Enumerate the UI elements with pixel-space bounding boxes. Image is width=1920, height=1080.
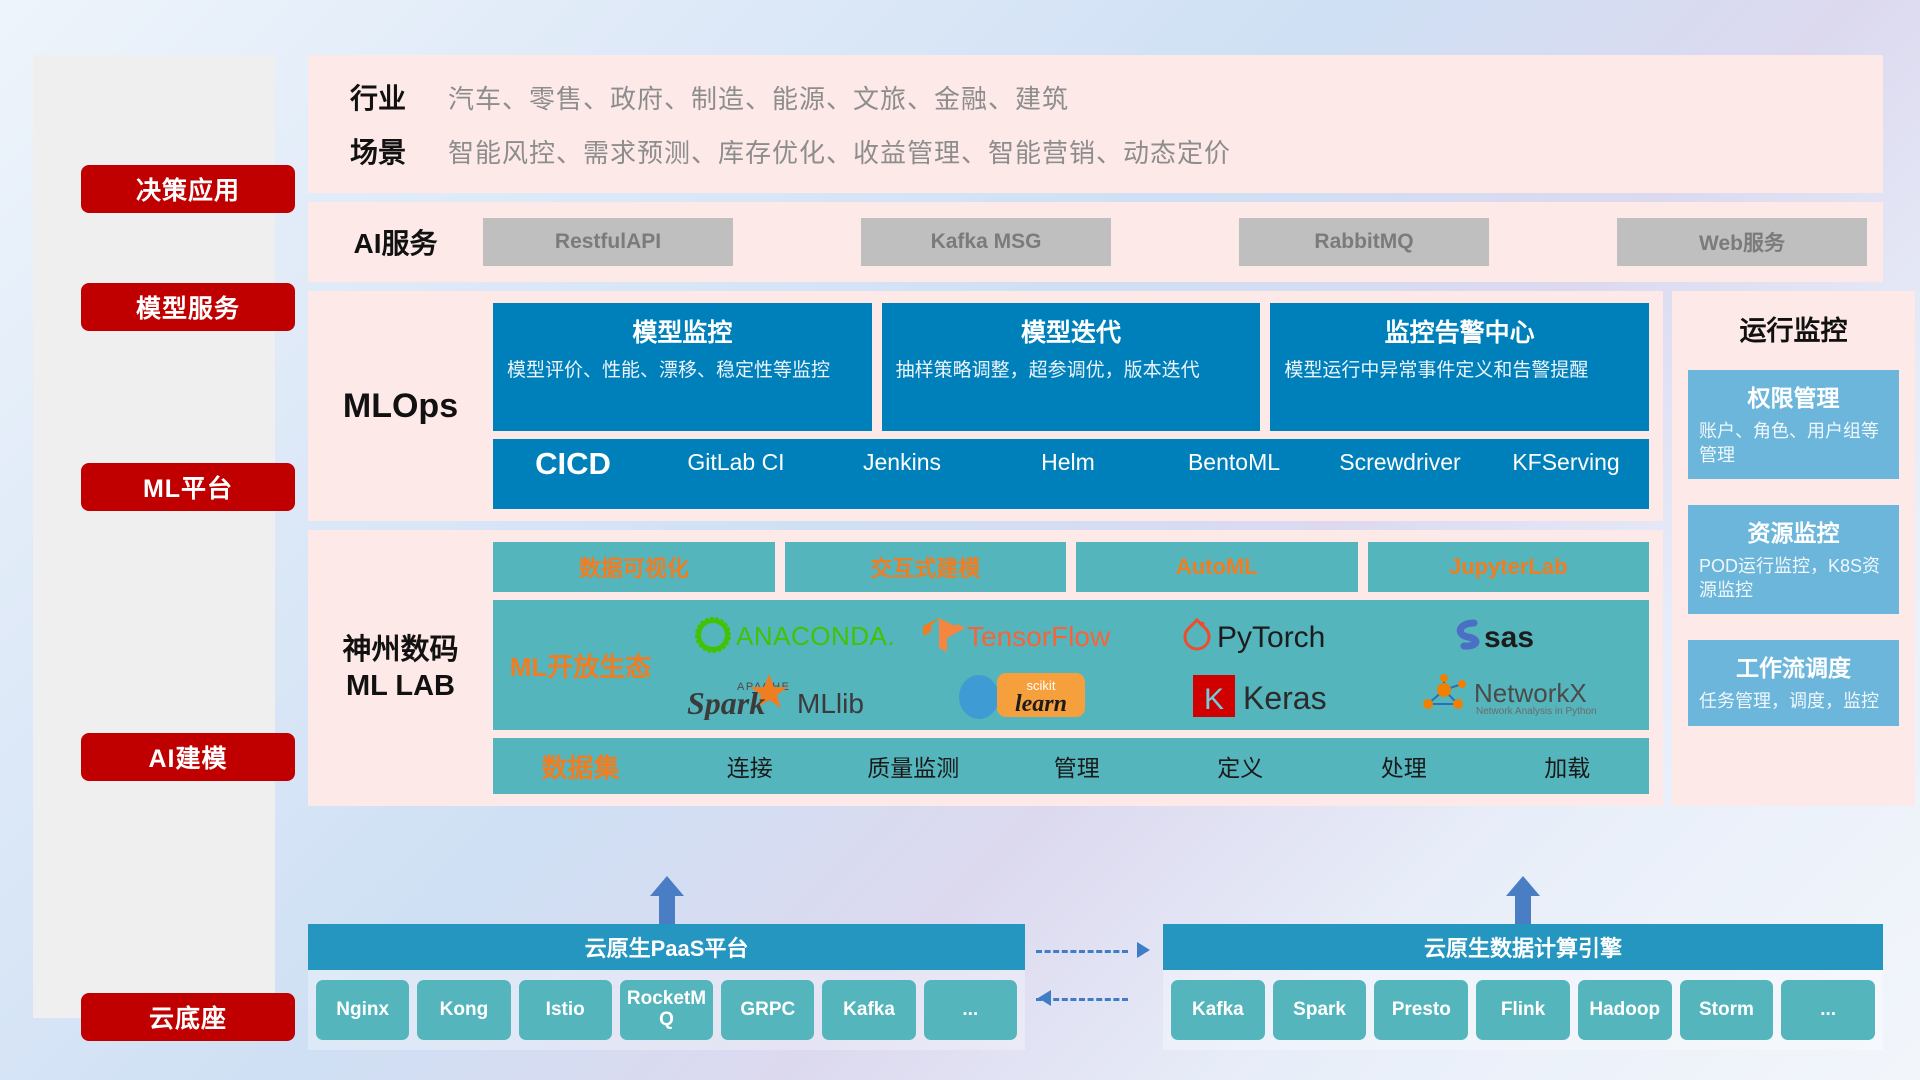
ml-lab-label: 神州数码 ML LAB: [308, 542, 493, 794]
card-desc: POD运行监控，K8S资源监控: [1699, 554, 1888, 602]
chip-presto[interactable]: Presto: [1374, 980, 1468, 1040]
scikit-learn-logo: scikit learn: [943, 666, 1133, 724]
ml-open-ecosystem: ML开放生态 ANACONDA.: [493, 600, 1649, 730]
card-title: 工作流调度: [1699, 649, 1888, 683]
chip-kafka-right[interactable]: Kafka: [1171, 980, 1265, 1040]
chip-grpc[interactable]: GRPC: [721, 980, 814, 1040]
svg-text:sas: sas: [1484, 621, 1534, 654]
scenario-values: 智能风控、需求预测、库存优化、收益管理、智能营销、动态定价: [448, 133, 1231, 170]
svg-text:TensorFlow: TensorFlow: [967, 621, 1111, 652]
ml-lab-label-line2: ML LAB: [342, 668, 458, 704]
ai-service-rabbitmq[interactable]: RabbitMQ: [1239, 218, 1489, 266]
rail-item-label: ML平台: [143, 469, 233, 505]
cloud-native-paas-group: 云原生PaaS平台 Nginx Kong Istio RocketMQ GRPC…: [308, 924, 1025, 1050]
svg-text:Network Analysis in Python: Network Analysis in Python: [1476, 706, 1597, 717]
card-desc: 模型运行中异常事件定义和告警提醒: [1284, 358, 1635, 383]
decision-application-band: 行业 汽车、零售、政府、制造、能源、文旅、金融、建筑 场景 智能风控、需求预测、…: [308, 55, 1883, 193]
mlops-body: 模型监控 模型评价、性能、漂移、稳定性等监控 模型迭代 抽样策略调整，超参调优，…: [493, 303, 1663, 509]
left-rail: 决策应用 模型服务 ML平台 AI建模 云底座: [33, 55, 275, 1018]
dataset-items: 连接 质量监测 管理 定义 处理 加载: [668, 749, 1649, 783]
svg-text:MLlib: MLlib: [797, 688, 864, 719]
chip-istio[interactable]: Istio: [519, 980, 612, 1040]
industry-row: 行业 汽车、零售、政府、制造、能源、文旅、金融、建筑: [308, 77, 1883, 117]
cicd-item-helm[interactable]: Helm: [985, 445, 1151, 477]
ai-service-web[interactable]: Web服务: [1617, 218, 1867, 266]
dataset-item-connect[interactable]: 连接: [668, 749, 832, 783]
chip-more-left[interactable]: ...: [924, 980, 1017, 1040]
rail-item-label: AI建模: [148, 739, 227, 775]
rail-item-ml-platform[interactable]: ML平台: [81, 463, 295, 511]
ai-service-items: RestfulAPI Kafka MSG RabbitMQ Web服务: [483, 218, 1883, 266]
tool-data-visualization[interactable]: 数据可视化: [493, 542, 775, 592]
chip-rocketmq[interactable]: RocketMQ: [620, 980, 713, 1040]
cloud-native-paas-chips: Nginx Kong Istio RocketMQ GRPC Kafka ...: [308, 970, 1025, 1050]
up-arrow-left-icon: [650, 876, 684, 924]
industry-values: 汽车、零售、政府、制造、能源、文旅、金融、建筑: [448, 79, 1069, 116]
tool-jupyterlab[interactable]: JupyterLab: [1368, 542, 1650, 592]
cloud-base-row: 云原生PaaS平台 Nginx Kong Istio RocketMQ GRPC…: [308, 876, 1883, 1066]
runtime-monitor-title: 运行监控: [1688, 309, 1899, 348]
chip-hadoop[interactable]: Hadoop: [1578, 980, 1672, 1040]
svg-text:learn: learn: [1015, 691, 1067, 717]
rail-item-label: 云底座: [149, 999, 227, 1035]
svg-text:K: K: [1204, 683, 1224, 716]
ai-service-band: AI服务 RestfulAPI Kafka MSG RabbitMQ Web服务: [308, 202, 1883, 282]
dataset-item-process[interactable]: 处理: [1322, 749, 1486, 783]
svg-text:ANACONDA.: ANACONDA.: [736, 621, 895, 651]
ml-lab-band: 神州数码 ML LAB 数据可视化 交互式建模 AutoML JupyterLa…: [308, 530, 1663, 806]
dataset-item-load[interactable]: 加载: [1486, 749, 1650, 783]
diagram-canvas: 决策应用 模型服务 ML平台 AI建模 云底座 行业 汽车、零售、政府、制造、能…: [0, 0, 1920, 1080]
card-desc: 任务管理，调度，监控: [1699, 689, 1888, 713]
ml-lab-body: 数据可视化 交互式建模 AutoML JupyterLab ML开放生态: [493, 542, 1663, 794]
platform-column: MLOps 模型监控 模型评价、性能、漂移、稳定性等监控 模型迭代 抽样策略调整…: [308, 291, 1663, 806]
pytorch-logo: PyTorch: [1179, 606, 1379, 664]
cloud-native-data-engine-group: 云原生数据计算引擎 Kafka Spark Presto Flink Hadoo…: [1163, 924, 1883, 1050]
runtime-monitor-panel: 运行监控 权限管理 账户、角色、用户组等管理 资源监控 POD运行监控，K8S资…: [1672, 291, 1915, 806]
rail-item-cloud-base[interactable]: 云底座: [81, 993, 295, 1041]
mlops-label: MLOps: [308, 303, 493, 509]
main-stack: 行业 汽车、零售、政府、制造、能源、文旅、金融、建筑 场景 智能风控、需求预测、…: [308, 55, 1883, 806]
networkx-logo: NetworkX Network Analysis in Python: [1414, 666, 1629, 724]
sas-logo: sas: [1446, 606, 1596, 664]
scenario-row: 场景 智能风控、需求预测、库存优化、收益管理、智能营销、动态定价: [308, 131, 1883, 171]
chip-flink[interactable]: Flink: [1476, 980, 1570, 1040]
ecosystem-logos: ANACONDA. TensorFlow: [668, 600, 1649, 730]
up-arrow-right-icon: [1506, 876, 1540, 924]
cicd-item-gitlab-ci[interactable]: GitLab CI: [653, 445, 819, 477]
spark-mllib-logo: APACHE Spark MLlib: [681, 666, 911, 724]
monitor-card-workflow[interactable]: 工作流调度 任务管理，调度，监控: [1688, 640, 1899, 725]
cicd-item-bentoml[interactable]: BentoML: [1151, 445, 1317, 477]
ml-lab-tools: 数据可视化 交互式建模 AutoML JupyterLab: [493, 542, 1649, 592]
monitor-card-resource[interactable]: 资源监控 POD运行监控，K8S资源监控: [1688, 505, 1899, 614]
mlops-card-alert-center[interactable]: 监控告警中心 模型运行中异常事件定义和告警提醒: [1270, 303, 1649, 431]
monitor-card-permission[interactable]: 权限管理 账户、角色、用户组等管理: [1688, 370, 1899, 479]
ecosystem-label: ML开放生态: [493, 647, 668, 684]
cloud-native-paas-title: 云原生PaaS平台: [308, 924, 1025, 970]
rail-item-ai-modeling[interactable]: AI建模: [81, 733, 295, 781]
card-title: 资源监控: [1699, 514, 1888, 548]
card-desc: 模型评价、性能、漂移、稳定性等监控: [507, 358, 858, 383]
chip-kafka[interactable]: Kafka: [822, 980, 915, 1040]
rail-item-label: 决策应用: [136, 171, 240, 207]
ml-lab-label-line1: 神州数码: [342, 632, 458, 668]
mlops-card-model-monitoring[interactable]: 模型监控 模型评价、性能、漂移、稳定性等监控: [493, 303, 872, 431]
rail-item-decision-app[interactable]: 决策应用: [81, 165, 295, 213]
card-desc: 账户、角色、用户组等管理: [1699, 419, 1888, 467]
chip-spark[interactable]: Spark: [1273, 980, 1367, 1040]
chip-kong[interactable]: Kong: [417, 980, 510, 1040]
dataset-row: 数据集 连接 质量监测 管理 定义 处理 加载: [493, 738, 1649, 794]
cloud-native-data-engine-chips: Kafka Spark Presto Flink Hadoop Storm ..…: [1163, 970, 1883, 1050]
dataset-item-manage[interactable]: 管理: [995, 749, 1159, 783]
cicd-item-jenkins[interactable]: Jenkins: [819, 445, 985, 477]
rail-item-model-service[interactable]: 模型服务: [81, 283, 295, 331]
card-title: 模型监控: [507, 313, 858, 349]
cloud-native-data-engine-title: 云原生数据计算引擎: [1163, 924, 1883, 970]
mlops-cards: 模型监控 模型评价、性能、漂移、稳定性等监控 模型迭代 抽样策略调整，超参调优，…: [493, 303, 1649, 431]
cicd-item-screwdriver[interactable]: Screwdriver: [1317, 445, 1483, 477]
card-title: 监控告警中心: [1284, 313, 1635, 349]
ai-service-label: AI服务: [308, 222, 483, 262]
ai-service-restfulapi[interactable]: RestfulAPI: [483, 218, 733, 266]
chip-storm[interactable]: Storm: [1680, 980, 1774, 1040]
mlops-card-model-iteration[interactable]: 模型迭代 抽样策略调整，超参调优，版本迭代: [882, 303, 1261, 431]
anaconda-logo: ANACONDA.: [688, 606, 903, 664]
rail-item-label: 模型服务: [136, 289, 240, 325]
chip-nginx[interactable]: Nginx: [316, 980, 409, 1040]
card-title: 模型迭代: [896, 313, 1247, 349]
card-desc: 抽样策略调整，超参调优，版本迭代: [896, 358, 1247, 383]
cicd-title: CICD: [493, 445, 653, 484]
industry-label: 行业: [308, 77, 448, 117]
svg-text:Spark: Spark: [687, 685, 765, 720]
dataset-item-define[interactable]: 定义: [1159, 749, 1323, 783]
dataset-item-quality-monitoring[interactable]: 质量监测: [832, 749, 996, 783]
scenario-label: 场景: [308, 131, 448, 171]
dataset-label: 数据集: [493, 748, 668, 785]
cicd-item-kfserving[interactable]: KFServing: [1483, 445, 1649, 477]
cicd-row: CICD GitLab CI Jenkins Helm BentoML Scre…: [493, 439, 1649, 509]
svg-text:PyTorch: PyTorch: [1217, 621, 1325, 654]
card-title: 权限管理: [1699, 379, 1888, 413]
mlops-band: MLOps 模型监控 模型评价、性能、漂移、稳定性等监控 模型迭代 抽样策略调整…: [308, 291, 1663, 521]
chip-more-right[interactable]: ...: [1781, 980, 1875, 1040]
tool-interactive-modeling[interactable]: 交互式建模: [785, 542, 1067, 592]
platform-and-monitor-row: MLOps 模型监控 模型评价、性能、漂移、稳定性等监控 模型迭代 抽样策略调整…: [308, 291, 1883, 806]
svg-text:Keras: Keras: [1243, 680, 1327, 716]
tensorflow-logo: TensorFlow: [923, 606, 1153, 664]
tool-automl[interactable]: AutoML: [1076, 542, 1358, 592]
ai-service-kafka-msg[interactable]: Kafka MSG: [861, 218, 1111, 266]
svg-text:NetworkX: NetworkX: [1474, 678, 1587, 708]
keras-logo: K Keras: [1189, 666, 1369, 724]
